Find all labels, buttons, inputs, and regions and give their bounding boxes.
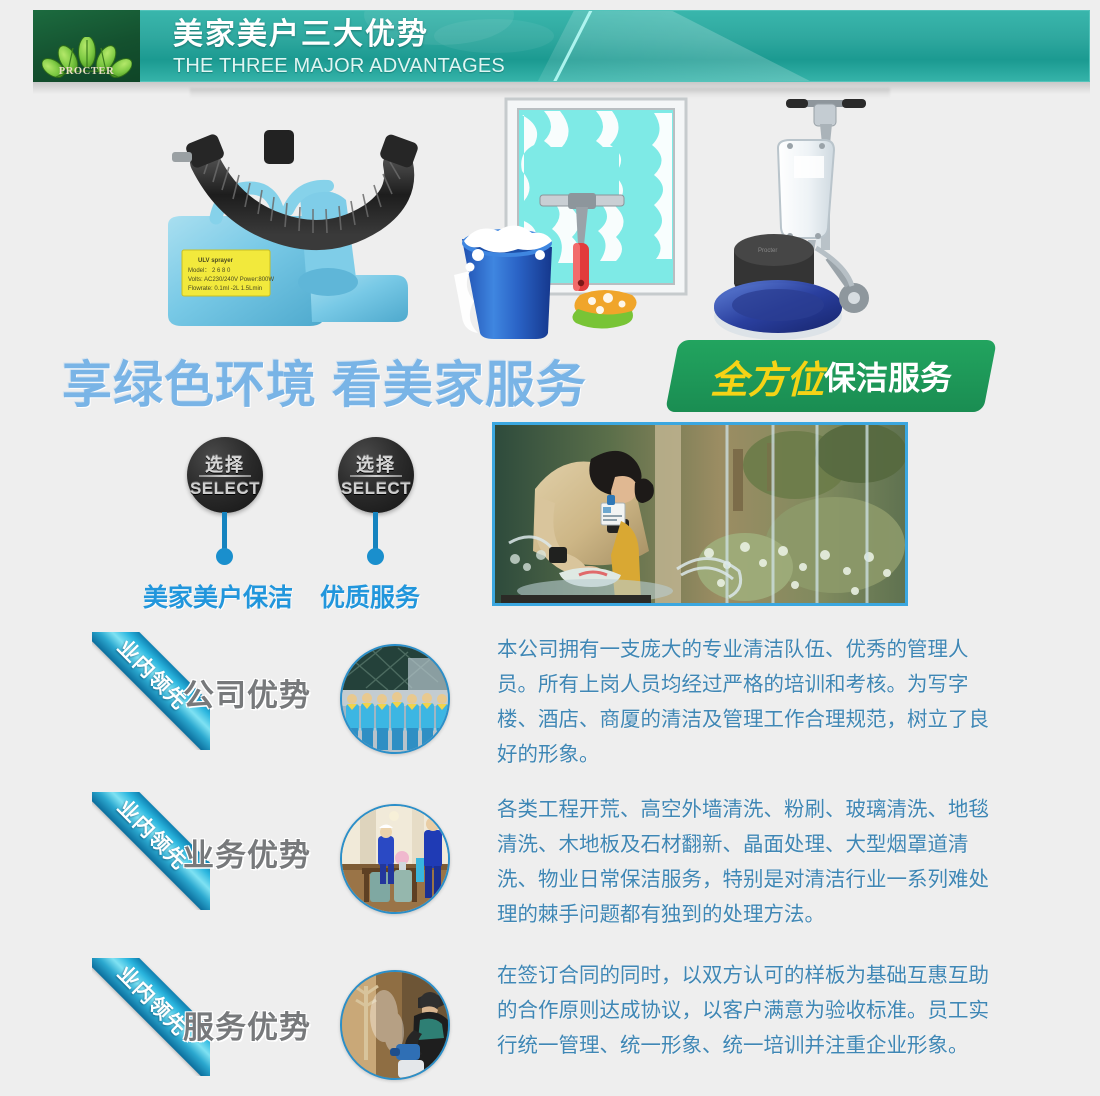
svg-text:Volts: AC230/240V Power:800W: Volts: AC230/240V Power:800W: [188, 277, 274, 283]
advantage-title-3: 服务优势: [183, 1002, 311, 1047]
select-badge-1-en: SELECT: [187, 479, 263, 499]
pin-dot-2: [367, 548, 384, 565]
worker-spraying-wall-photo: [340, 970, 450, 1080]
page-subtitle: THE THREE MAJOR ADVANTAGES: [173, 53, 505, 79]
header-diagonal-shine: [508, 10, 1090, 82]
svg-text:Procter: Procter: [758, 248, 777, 254]
pin-stem-1: [222, 512, 227, 550]
green-banner-text: 全方位 保洁服务: [672, 340, 990, 412]
pin-dot-1: [216, 548, 233, 565]
brand-logo: PROCTER: [33, 10, 140, 82]
page-header: PROCTER 美家美户三大优势 THE THREE MAJOR ADVANTA…: [33, 10, 1090, 82]
select-badge-1-divider: [199, 475, 251, 477]
team-lineup-photo: [340, 644, 450, 754]
select-badge-2[interactable]: 选择 SELECT: [338, 437, 414, 513]
select-label-1: 美家美户保洁: [143, 578, 293, 614]
pin-stem-2: [373, 512, 378, 550]
advantage-text-3: 在签订合同的同时，以双方认可的样板为基础互惠互助的合作原则达成协议，以客户满意为…: [497, 958, 1007, 1063]
advantage-title-1: 公司优势: [183, 670, 311, 715]
advantage-text-2: 各类工程开荒、高空外墙清洗、粉刷、玻璃清洗、地毯清洗、木地板及石材翻新、晶面处理…: [497, 792, 1007, 932]
header-title-group: 美家美户三大优势 THE THREE MAJOR ADVANTAGES: [173, 18, 505, 79]
cleaner-wiping-glass-table-photo: [492, 422, 908, 606]
main-slogan: 享绿色环境 看美家服务: [62, 345, 587, 417]
svg-text:Model： 2 6 8 0: Model： 2 6 8 0: [188, 268, 231, 274]
green-banner-highlight: 全方位: [710, 349, 824, 404]
advantage-text-1: 本公司拥有一支庞大的专业清洁队伍、优秀的管理人员。所有上岗人员均经过严格的培训和…: [497, 632, 1007, 772]
promo-page: PROCTER 美家美户三大优势 THE THREE MAJOR ADVANTA…: [0, 0, 1100, 1096]
select-badge-2-en: SELECT: [338, 479, 414, 499]
ulv-sprayer-machine-image: ULV sprayer Model： 2 6 8 0 Volts: AC230/…: [160, 100, 422, 340]
logo-wordmark: PROCTER: [33, 66, 140, 77]
green-banner-rest: 保洁服务: [824, 353, 952, 399]
window-squeegee-bucket-image: [440, 95, 690, 343]
svg-text:Flowrate: 0.1ml -2L 1.5Lmi: Flowrate: 0.1ml -2L 1.5Lmin: [188, 286, 262, 292]
select-badge-1-cn: 选择: [187, 451, 263, 477]
select-badge-1[interactable]: 选择 SELECT: [187, 437, 263, 513]
advantage-title-2: 业务优势: [183, 830, 311, 875]
page-title: 美家美户三大优势: [173, 18, 505, 52]
indoor-cleaning-staff-photo: [340, 804, 450, 914]
select-badge-2-divider: [350, 475, 402, 477]
svg-text:ULV sprayer: ULV sprayer: [198, 258, 234, 264]
select-badge-2-cn: 选择: [338, 451, 414, 477]
select-label-2: 优质服务: [320, 578, 420, 614]
floor-polisher-machine-image: Procter: [712, 90, 940, 342]
